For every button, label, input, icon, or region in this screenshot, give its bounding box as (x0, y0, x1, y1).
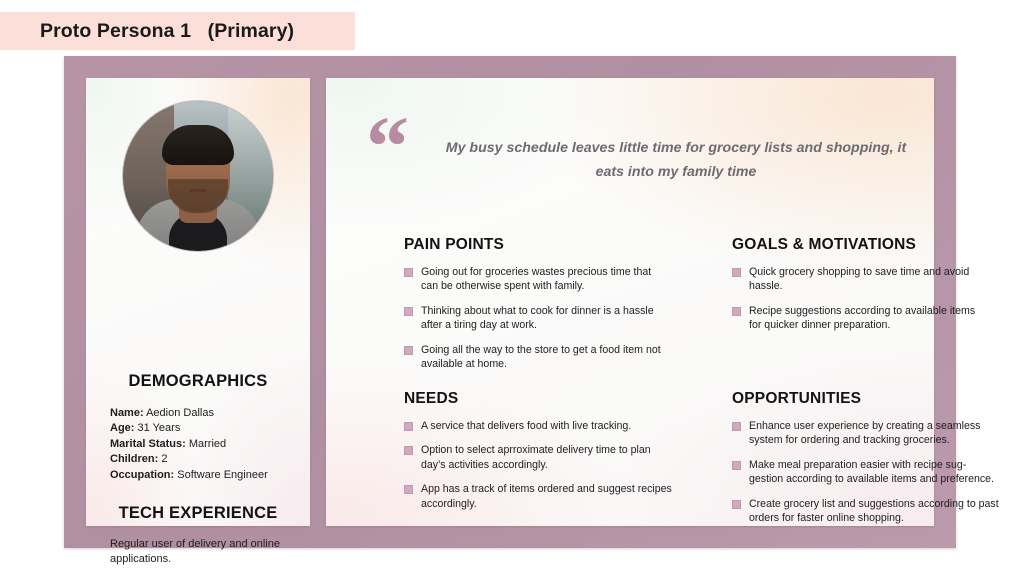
demographics-label-name: Name: (110, 407, 144, 419)
demographics-value-marital-status: Married (189, 438, 226, 450)
list-item: Option to select aprroximate delivery ti… (404, 443, 676, 472)
avatar-hair (162, 125, 234, 165)
list-item: Recipe suggestions according to availabl… (732, 304, 982, 333)
list-item: App has a track of items ordered and sug… (404, 482, 676, 511)
demographics-row-children: Children: 2 (110, 452, 306, 467)
avatar-photo (123, 101, 273, 251)
page-title: Proto Persona 1 (Primary) (40, 20, 294, 43)
bullet-square-icon (732, 461, 741, 470)
list-item-text: Quick grocery shopping to save time and … (749, 266, 969, 292)
avatar (122, 100, 274, 252)
demographics-row-name: Name: Aedion Dallas (110, 406, 306, 421)
title-banner: Proto Persona 1 (Primary) (0, 12, 355, 50)
list-item-text: Option to select aprroximate delivery ti… (421, 444, 651, 470)
tech-experience-body: Regular user of delivery and online appl… (110, 537, 280, 568)
demographics-value-occupation: Software Engineer (177, 469, 268, 481)
section-heading: NEEDS (404, 390, 676, 408)
demographics-list: Name: Aedion Dallas Age: 31 Years Marita… (110, 406, 306, 483)
bullet-square-icon (404, 422, 413, 431)
avatar-eyebrow-right (207, 152, 221, 155)
bullet-square-icon (404, 346, 413, 355)
section-heading: GOALS & MOTIVATIONS (732, 236, 982, 254)
list-item: Enhance user experience by creating a se… (732, 419, 1000, 448)
demographics-value-children: 2 (161, 453, 167, 465)
tech-experience-heading: TECH EXPERIENCE (86, 504, 310, 523)
list-item: A service that delivers food with live t… (404, 419, 676, 433)
list-item-text: A service that delivers food with live t… (421, 420, 631, 432)
list-item: Going out for groceries wastes precious … (404, 265, 666, 294)
demographics-row-occupation: Occupation: Software Engineer (110, 468, 306, 483)
section-heading: OPPORTUNITIES (732, 390, 1000, 408)
list-item-text: Going out for groceries wastes precious … (421, 266, 651, 292)
persona-card-frame: DEMOGRAPHICS Name: Aedion Dallas Age: 31… (64, 56, 956, 548)
demographics-row-marital-status: Marital Status: Married (110, 437, 306, 452)
bullet-square-icon (404, 307, 413, 316)
list-item-text: Create grocery list and suggestions acco… (749, 498, 999, 524)
list-item-text: Make meal preparation easier with recipe… (749, 459, 994, 485)
details-panel: “ My busy schedule leaves little time fo… (326, 78, 934, 526)
opportunities-list: Enhance user experience by creating a se… (732, 419, 1000, 525)
demographics-label-marital-status: Marital Status: (110, 438, 186, 450)
section-needs: NEEDS A service that delivers food with … (404, 390, 676, 511)
demographics-heading: DEMOGRAPHICS (86, 372, 310, 391)
section-goals-motivations: GOALS & MOTIVATIONS Quick grocery shoppi… (732, 236, 982, 333)
demographics-label-occupation: Occupation: (110, 469, 174, 481)
list-item-text: App has a track of items ordered and sug… (421, 483, 672, 509)
list-item: Going all the way to the store to get a … (404, 343, 666, 372)
list-item-text: Going all the way to the store to get a … (421, 344, 661, 370)
bullet-square-icon (732, 500, 741, 509)
avatar-eyebrow-left (175, 152, 189, 155)
list-item: Quick grocery shopping to save time and … (732, 265, 982, 294)
list-item: Create grocery list and suggestions acco… (732, 497, 1000, 526)
demographics-label-age: Age: (110, 422, 134, 434)
avatar-mouth (189, 189, 207, 192)
bullet-square-icon (404, 446, 413, 455)
list-item: Thinking about what to cook for dinner i… (404, 304, 666, 333)
list-item: Make meal preparation easier with recipe… (732, 458, 1000, 487)
demographics-label-children: Children: (110, 453, 158, 465)
persona-slide: Proto Persona 1 (Primary) (0, 0, 1024, 576)
profile-panel: DEMOGRAPHICS Name: Aedion Dallas Age: 31… (86, 78, 310, 526)
bullet-square-icon (732, 422, 741, 431)
section-pain-points: PAIN POINTS Going out for groceries wast… (404, 236, 666, 371)
needs-list: A service that delivers food with live t… (404, 419, 676, 511)
list-item-text: Enhance user experience by creating a se… (749, 420, 980, 446)
list-item-text: Thinking about what to cook for dinner i… (421, 305, 654, 331)
pain-points-list: Going out for groceries wastes precious … (404, 265, 666, 371)
demographics-value-age: 31 Years (138, 422, 181, 434)
persona-quote: My busy schedule leaves little time for … (434, 136, 918, 184)
demographics-value-name: Aedion Dallas (146, 407, 214, 419)
quote-mark-icon: “ (366, 122, 407, 170)
list-item-text: Recipe suggestions according to availabl… (749, 305, 975, 331)
goals-list: Quick grocery shopping to save time and … (732, 265, 982, 333)
bullet-square-icon (732, 307, 741, 316)
bullet-square-icon (404, 268, 413, 277)
section-heading: PAIN POINTS (404, 236, 666, 254)
section-opportunities: OPPORTUNITIES Enhance user experience by… (732, 390, 1000, 525)
avatar-eye-left (178, 159, 187, 163)
avatar-eye-right (209, 159, 218, 163)
demographics-row-age: Age: 31 Years (110, 421, 306, 436)
bullet-square-icon (732, 268, 741, 277)
bullet-square-icon (404, 485, 413, 494)
